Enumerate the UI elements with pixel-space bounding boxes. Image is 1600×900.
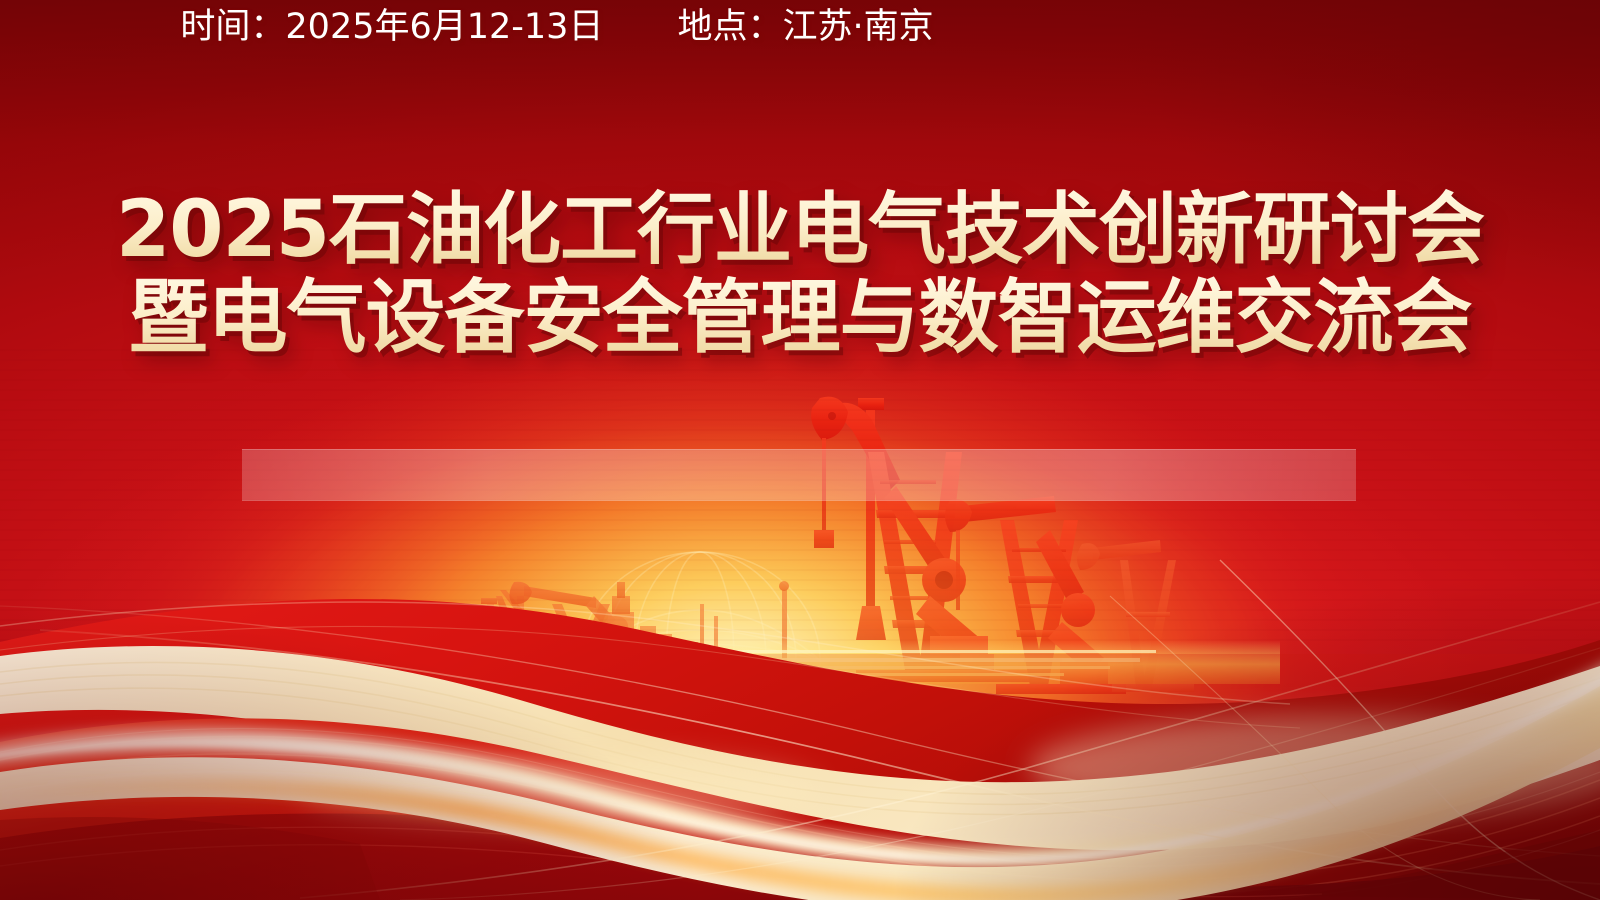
title-line-2: 暨电气设备安全管理与数智运维交流会 <box>0 274 1600 362</box>
info-bar: 时间：2025年6月12-13日 地点：江苏·南京 <box>0 0 1114 52</box>
conference-banner: 2025石油化工行业电气技术创新研讨会 暨电气设备安全管理与数智运维交流会 时间… <box>0 0 1600 900</box>
event-date: 时间：2025年6月12-13日 <box>180 1 603 53</box>
banner-title: 2025石油化工行业电气技术创新研讨会 暨电气设备安全管理与数智运维交流会 <box>0 186 1600 362</box>
info-bar-background <box>242 449 1356 501</box>
event-location: 地点：江苏·南京 <box>677 1 933 53</box>
title-line-1: 2025石油化工行业电气技术创新研讨会 <box>0 186 1600 274</box>
